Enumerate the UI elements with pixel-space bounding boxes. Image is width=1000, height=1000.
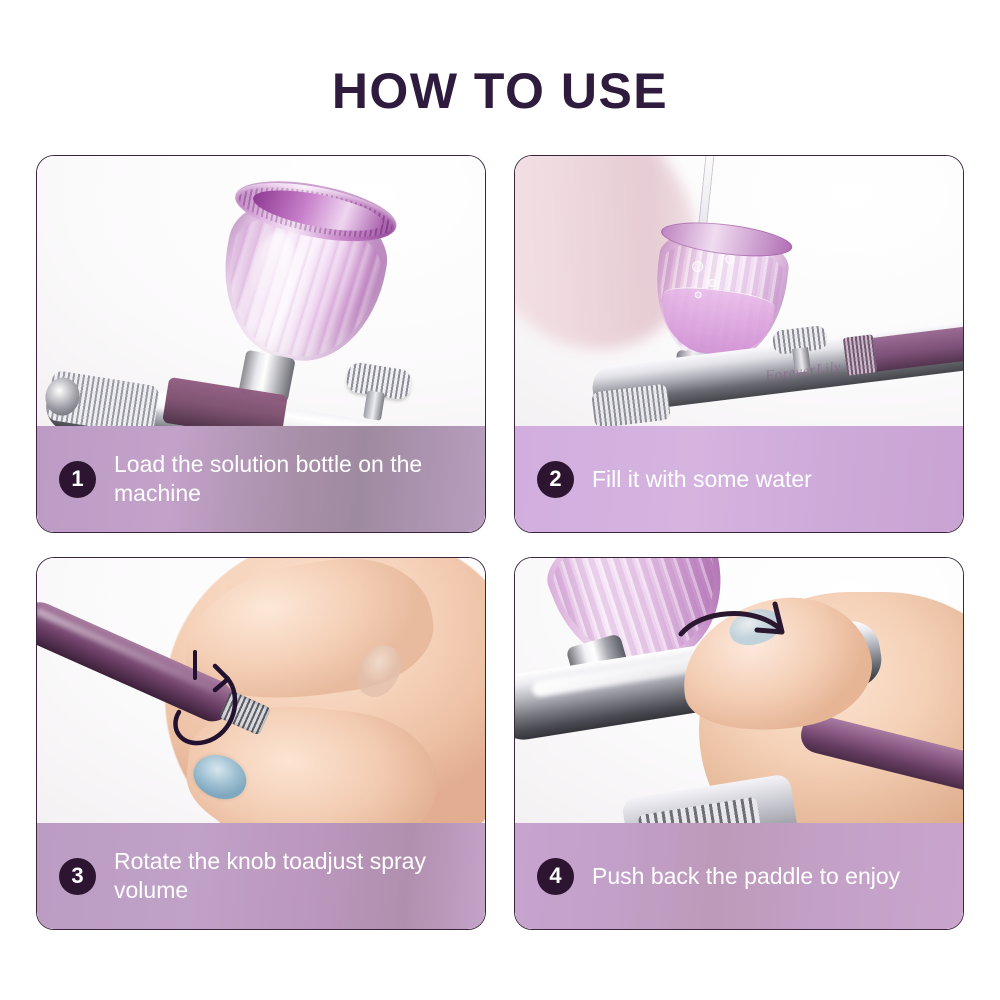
step-3-caption: 3 Rotate the knob toadjust spray volume bbox=[37, 823, 485, 929]
step-card-2[interactable]: ForeverLily 2 Fill it with some water bbox=[514, 155, 964, 533]
airbrush-grip-ring bbox=[843, 334, 877, 375]
step-4-text: Push back the paddle to enjoy bbox=[592, 862, 900, 891]
steps-grid: 1 Load the solution bottle on the machin… bbox=[36, 155, 964, 930]
rotation-arrow-icon bbox=[165, 642, 285, 772]
step-3-badge: 3 bbox=[59, 858, 96, 895]
push-arrow-icon bbox=[675, 602, 805, 682]
step-4-badge: 4 bbox=[537, 858, 574, 895]
step-2-caption: 2 Fill it with some water bbox=[515, 426, 963, 532]
step-card-3[interactable]: 3 Rotate the knob toadjust spray volume bbox=[36, 557, 486, 930]
how-to-use-infographic: HOW TO USE bbox=[0, 0, 1000, 1000]
step-3-text: Rotate the knob toadjust spray volume bbox=[114, 847, 444, 905]
step-card-4[interactable]: 4 Push back the paddle to enjoy bbox=[514, 557, 964, 930]
step-2-badge: 2 bbox=[537, 461, 574, 498]
step-2-text: Fill it with some water bbox=[592, 465, 812, 494]
step-1-badge: 1 bbox=[59, 461, 96, 498]
step-1-text: Load the solution bottle on the machine bbox=[114, 450, 444, 508]
step-4-caption: 4 Push back the paddle to enjoy bbox=[515, 823, 963, 929]
page-title: HOW TO USE bbox=[0, 62, 1000, 120]
step-1-caption: 1 Load the solution bottle on the machin… bbox=[37, 426, 485, 532]
step-card-1[interactable]: 1 Load the solution bottle on the machin… bbox=[36, 155, 486, 533]
